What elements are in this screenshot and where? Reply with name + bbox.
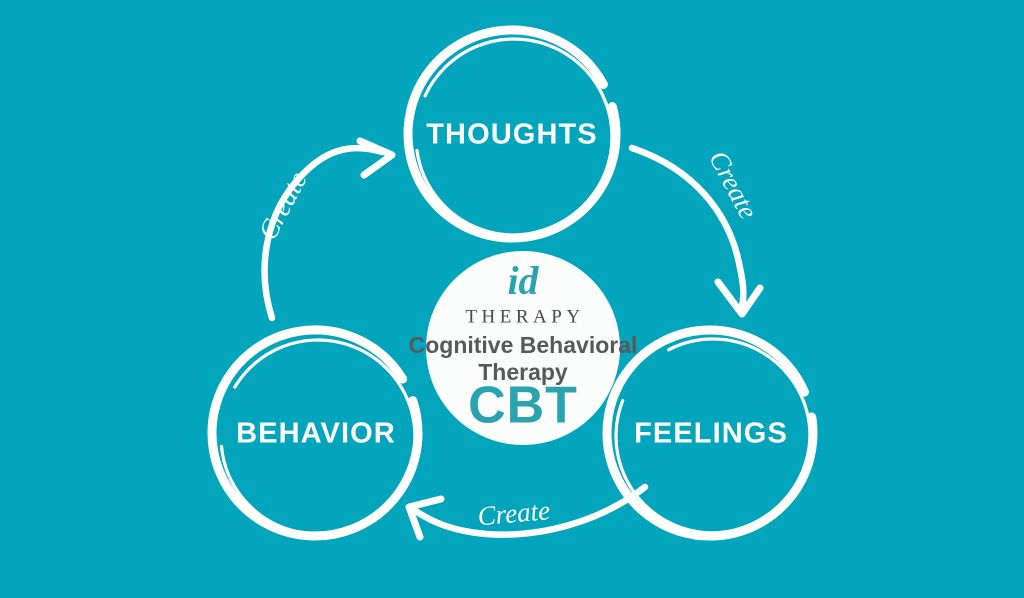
center-badge-acronym: CBT: [468, 377, 578, 435]
arrow-head-thoughts-to-feelings: [718, 282, 760, 314]
cbt-cycle-diagram: Create Create Create THOUGHTS FEELINGS: [0, 0, 1024, 598]
brand-mark-id: id: [507, 258, 539, 303]
connector-behavior-to-thoughts: Create: [252, 141, 392, 318]
arrow-head-behavior-to-thoughts: [360, 141, 392, 175]
connector-label-behavior-to-thoughts: Create: [252, 167, 313, 245]
node-feelings-label: FEELINGS: [634, 418, 788, 450]
diagram-canvas: Create Create Create THOUGHTS FEELINGS: [0, 0, 1024, 598]
connector-label-thoughts-to-feelings: Create: [703, 146, 764, 224]
node-thoughts-label: THOUGHTS: [426, 119, 598, 151]
connector-thoughts-to-feelings: Create: [632, 146, 764, 314]
node-behavior[interactable]: BEHAVIOR: [196, 314, 438, 557]
connector-label-feelings-to-behavior: Create: [476, 495, 551, 531]
center-badge-line-1: Cognitive Behavioral: [409, 332, 638, 358]
brand-wordmark-therapy: THERAPY: [465, 306, 584, 327]
node-behavior-label: BEHAVIOR: [236, 418, 396, 450]
node-thoughts[interactable]: THOUGHTS: [388, 11, 639, 262]
center-badge: id THERAPY Cognitive Behavioral Therapy …: [409, 251, 638, 445]
connector-feelings-to-behavior: Create: [409, 487, 645, 537]
